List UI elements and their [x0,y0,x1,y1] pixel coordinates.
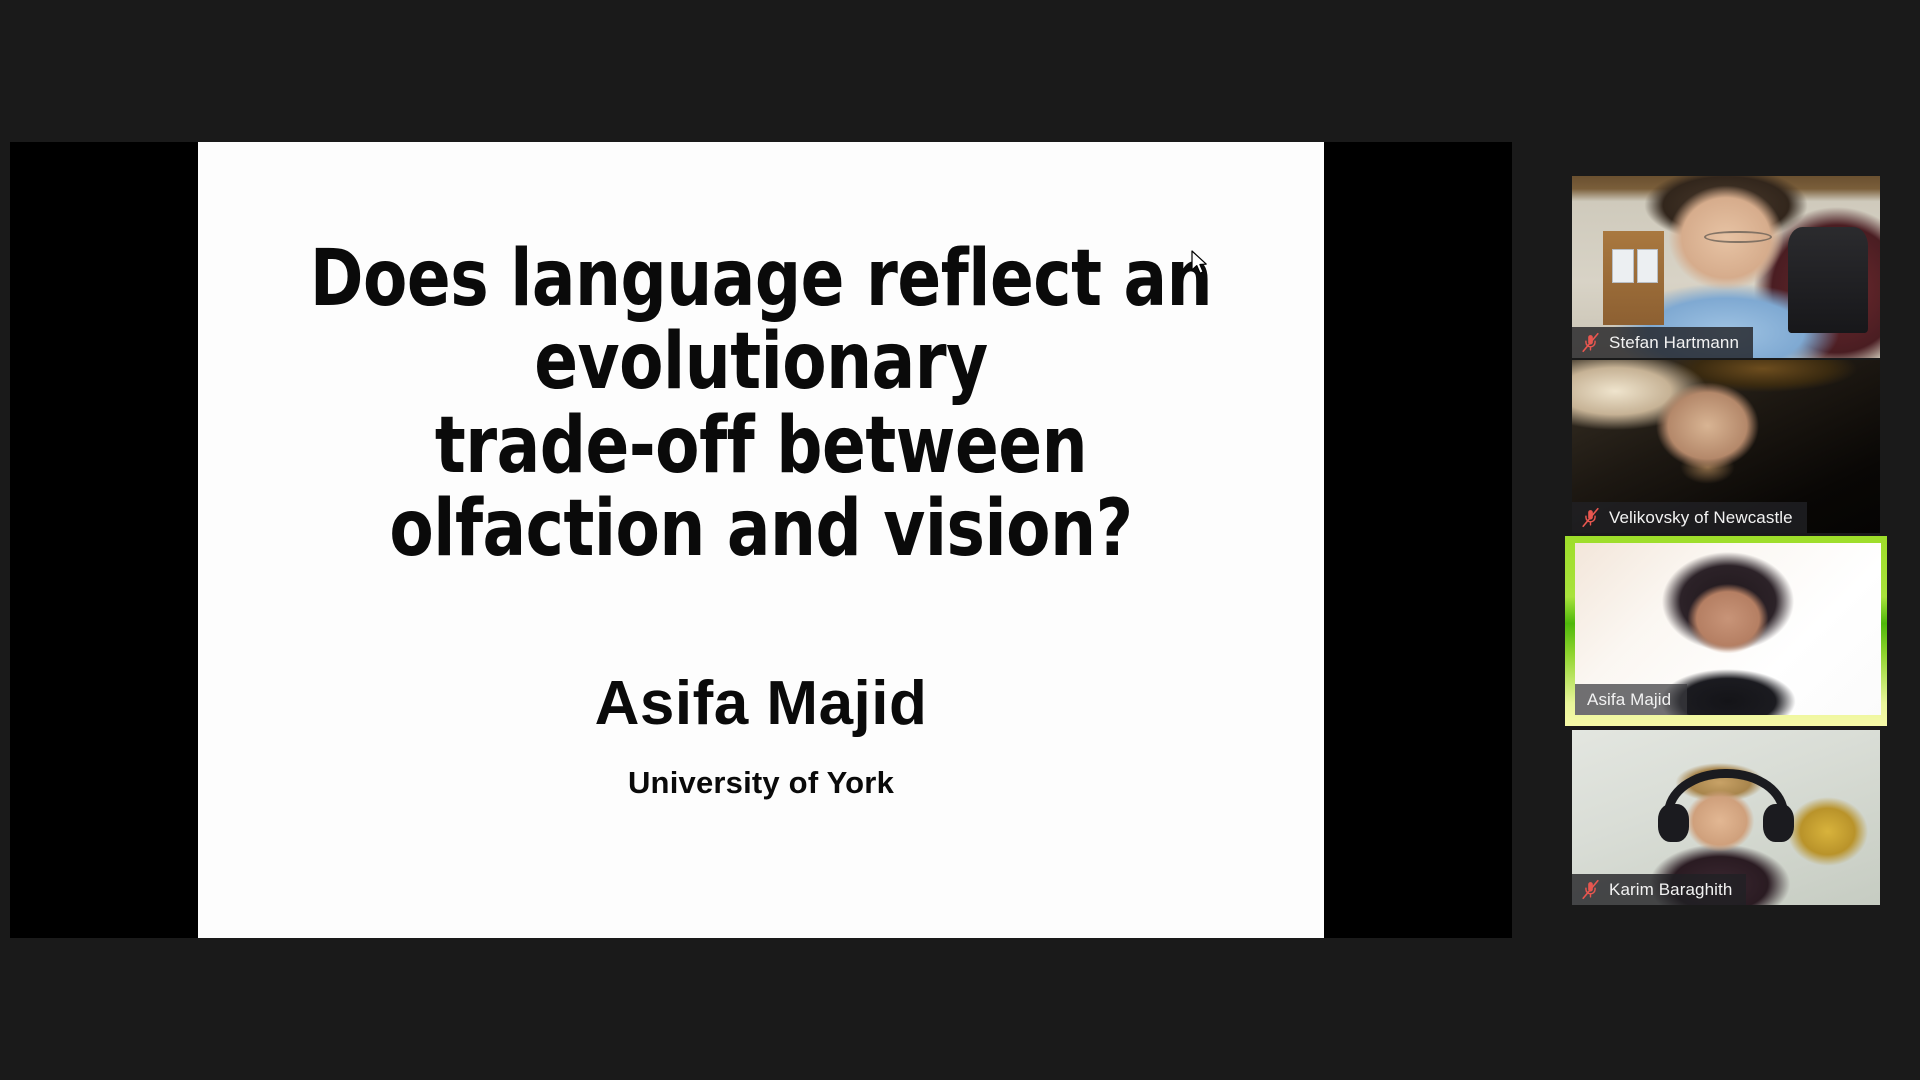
slide-title: Does language reflect an evolutionary tr… [265,238,1257,572]
slide-affiliation: University of York [222,765,1300,801]
decor-paper [1637,249,1659,284]
participant-label: Asifa Majid [1575,684,1687,715]
participant-name: Velikovsky of Newcastle [1609,508,1793,528]
participant-label: Karim Baraghith [1572,874,1746,905]
participant-tile-asifa-majid[interactable]: Asifa Majid [1565,536,1887,726]
microphone-muted-icon [1581,879,1600,900]
slide-author: Asifa Majid [222,668,1300,739]
microphone-muted-icon [1581,507,1600,528]
decor-paper [1612,249,1634,284]
decor-headphone-cup [1763,804,1794,843]
participant-tile-stefan-hartmann[interactable]: Stefan Hartmann [1572,176,1880,358]
decor-chair [1788,227,1868,333]
decor-headphone-cup [1658,804,1689,843]
participant-filmstrip: Stefan Hartmann Velikovsky of Newcastle … [1560,170,1900,915]
participant-name: Stefan Hartmann [1609,333,1739,353]
slide-content: Does language reflect an evolutionary tr… [198,238,1324,801]
participant-tile-velikovsky-of-newcastle[interactable]: Velikovsky of Newcastle [1572,360,1880,533]
presentation-slide[interactable]: Does language reflect an evolutionary tr… [198,142,1324,938]
participant-tile-karim-baraghith[interactable]: Karim Baraghith [1572,730,1880,905]
participant-label: Stefan Hartmann [1572,327,1753,358]
participant-name: Karim Baraghith [1609,880,1732,900]
shared-screen-stage[interactable]: Does language reflect an evolutionary tr… [10,142,1512,938]
participant-label: Velikovsky of Newcastle [1572,502,1807,533]
decor-glasses [1704,231,1772,244]
participant-name: Asifa Majid [1587,690,1671,710]
microphone-muted-icon [1581,332,1600,353]
